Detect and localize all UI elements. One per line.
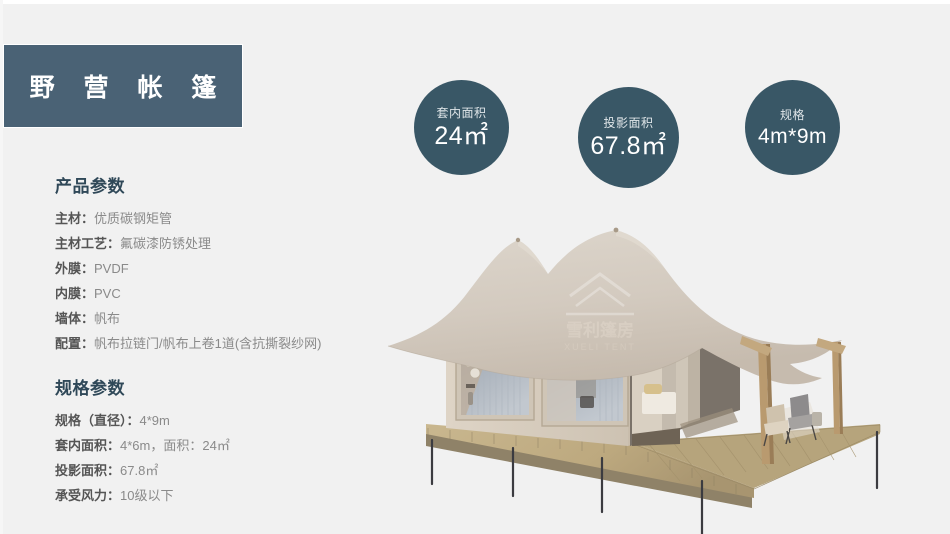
spec-value: PVC bbox=[94, 286, 121, 301]
spec-row: 规格（直径）：4*9m bbox=[55, 408, 385, 433]
section-heading: 规格参数 bbox=[55, 374, 385, 399]
spec-row: 主材：优质碳钢矩管 bbox=[55, 206, 385, 231]
tent-illustration: 雪利篷房 XUELI TENT bbox=[380, 196, 950, 534]
spec-value: 帆布拉链门/帆布上卷1道(含抗撕裂纱网) bbox=[94, 336, 322, 351]
spec-label: 主材工艺： bbox=[55, 236, 120, 251]
page-title: 野 营 帐 篷 bbox=[19, 68, 228, 104]
product-spec-page: 野 营 帐 篷 套内面积 24㎡ 投影面积 67.8㎡ 规格 4m*9m 产品参… bbox=[0, 0, 950, 534]
stat-circle-dimensions: 规格 4m*9m bbox=[745, 80, 840, 175]
stat-label: 套内面积 bbox=[436, 107, 486, 119]
spec-value: 10级以下 bbox=[120, 488, 173, 503]
spec-section-dimensions: 规格参数 规格（直径）：4*9m 套内面积：4*6m，面积：24㎡ 投影面积：6… bbox=[55, 374, 385, 508]
spec-label: 墙体： bbox=[55, 311, 94, 326]
spec-value: 67.8㎡ bbox=[120, 463, 158, 478]
stat-value: 4m*9m bbox=[758, 126, 827, 147]
spec-section-product: 产品参数 主材：优质碳钢矩管 主材工艺：氟碳漆防锈处理 外膜：PVDF 内膜：P… bbox=[55, 172, 385, 356]
watermark-en: XUELI TENT bbox=[564, 342, 636, 352]
stat-label: 规格 bbox=[780, 109, 805, 121]
spec-value: 4*6m，面积：24㎡ bbox=[120, 438, 230, 453]
spec-value: 优质碳钢矩管 bbox=[94, 211, 172, 226]
spec-label: 承受风力： bbox=[55, 488, 120, 503]
title-banner: 野 营 帐 篷 bbox=[4, 45, 242, 127]
spec-value: 氟碳漆防锈处理 bbox=[120, 236, 211, 251]
stat-label: 投影面积 bbox=[603, 117, 653, 129]
spec-row: 配置：帆布拉链门/帆布上卷1道(含抗撕裂纱网) bbox=[55, 331, 385, 356]
spec-label: 投影面积： bbox=[55, 463, 120, 478]
spec-value: 4*9m bbox=[140, 413, 170, 428]
spec-label: 配置： bbox=[55, 336, 94, 351]
spec-label: 套内面积： bbox=[55, 438, 120, 453]
spec-row: 内膜：PVC bbox=[55, 281, 385, 306]
spec-row: 墙体：帆布 bbox=[55, 306, 385, 331]
stat-value: 67.8㎡ bbox=[590, 134, 666, 159]
section-heading: 产品参数 bbox=[55, 172, 385, 197]
spec-row: 投影面积：67.8㎡ bbox=[55, 458, 385, 483]
spec-row: 主材工艺：氟碳漆防锈处理 bbox=[55, 231, 385, 256]
stat-circle-projected-area: 投影面积 67.8㎡ bbox=[578, 87, 679, 188]
top-edge-strip bbox=[0, 0, 950, 4]
spec-label: 外膜： bbox=[55, 261, 94, 276]
stat-circle-interior-area: 套内面积 24㎡ bbox=[414, 80, 509, 175]
spec-column: 产品参数 主材：优质碳钢矩管 主材工艺：氟碳漆防锈处理 外膜：PVDF 内膜：P… bbox=[55, 172, 385, 526]
spec-row: 承受风力：10级以下 bbox=[55, 483, 385, 508]
spec-label: 规格（直径）： bbox=[55, 413, 140, 428]
watermark-cn: 雪利篷房 bbox=[566, 320, 634, 340]
spec-row: 外膜：PVDF bbox=[55, 256, 385, 281]
spec-label: 内膜： bbox=[55, 286, 94, 301]
stat-value: 24㎡ bbox=[434, 124, 488, 149]
spec-value: PVDF bbox=[94, 261, 129, 276]
tent-canopy bbox=[388, 228, 842, 385]
spec-row: 套内面积：4*6m，面积：24㎡ bbox=[55, 433, 385, 458]
spec-label: 主材： bbox=[55, 211, 94, 226]
left-edge-strip bbox=[0, 0, 3, 534]
spec-value: 帆布 bbox=[94, 311, 120, 326]
